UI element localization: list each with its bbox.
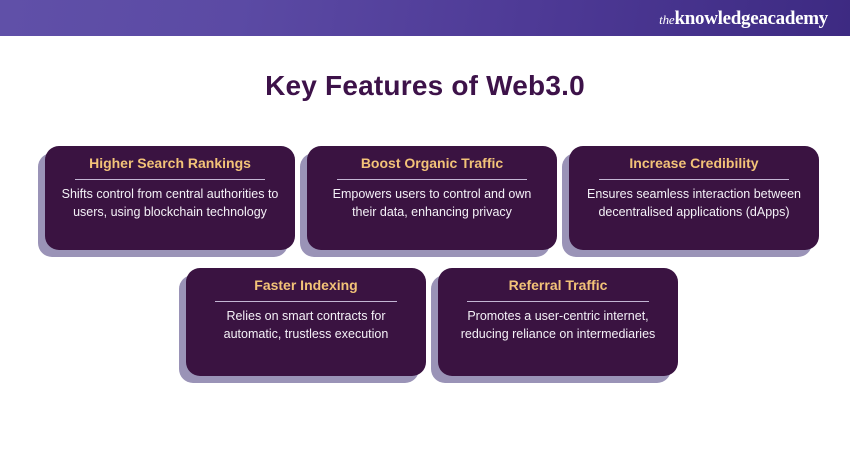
card-surface: Higher Search Rankings Shifts control fr…: [45, 146, 295, 250]
card-surface: Referral Traffic Promotes a user-centric…: [438, 268, 678, 376]
card-body: Relies on smart contracts for automatic,…: [198, 308, 414, 344]
feature-card-increase-credibility: Increase Credibility Ensures seamless in…: [562, 146, 812, 250]
card-body: Promotes a user-centric internet, reduci…: [450, 308, 666, 344]
card-surface: Boost Organic Traffic Empowers users to …: [307, 146, 557, 250]
card-body: Empowers users to control and own their …: [319, 186, 545, 222]
card-title: Higher Search Rankings: [89, 155, 251, 172]
feature-card-higher-search-rankings: Higher Search Rankings Shifts control fr…: [38, 146, 288, 250]
card-divider: [467, 301, 648, 302]
card-body: Ensures seamless interaction between dec…: [581, 186, 807, 222]
page-title: Key Features of Web3.0: [0, 70, 850, 102]
feature-card-row-top: Higher Search Rankings Shifts control fr…: [0, 146, 850, 250]
brand-logo: theknowledgeacademy: [659, 9, 828, 28]
feature-card-referral-traffic: Referral Traffic Promotes a user-centric…: [431, 268, 671, 376]
card-divider: [337, 179, 527, 180]
card-surface: Faster Indexing Relies on smart contract…: [186, 268, 426, 376]
card-title: Faster Indexing: [254, 277, 357, 294]
header-bar: theknowledgeacademy: [0, 0, 850, 36]
card-divider: [599, 179, 789, 180]
feature-card-grid: Higher Search Rankings Shifts control fr…: [0, 146, 850, 376]
card-title: Boost Organic Traffic: [361, 155, 503, 172]
brand-logo-prefix: the: [659, 12, 674, 27]
card-body: Shifts control from central authorities …: [57, 186, 283, 222]
card-surface: Increase Credibility Ensures seamless in…: [569, 146, 819, 250]
feature-card-boost-organic-traffic: Boost Organic Traffic Empowers users to …: [300, 146, 550, 250]
feature-card-row-bottom: Faster Indexing Relies on smart contract…: [0, 268, 850, 376]
card-divider: [75, 179, 265, 180]
card-title: Referral Traffic: [509, 277, 608, 294]
brand-logo-main: knowledgeacademy: [674, 8, 828, 29]
card-title: Increase Credibility: [629, 155, 758, 172]
card-divider: [215, 301, 396, 302]
feature-card-faster-indexing: Faster Indexing Relies on smart contract…: [179, 268, 419, 376]
